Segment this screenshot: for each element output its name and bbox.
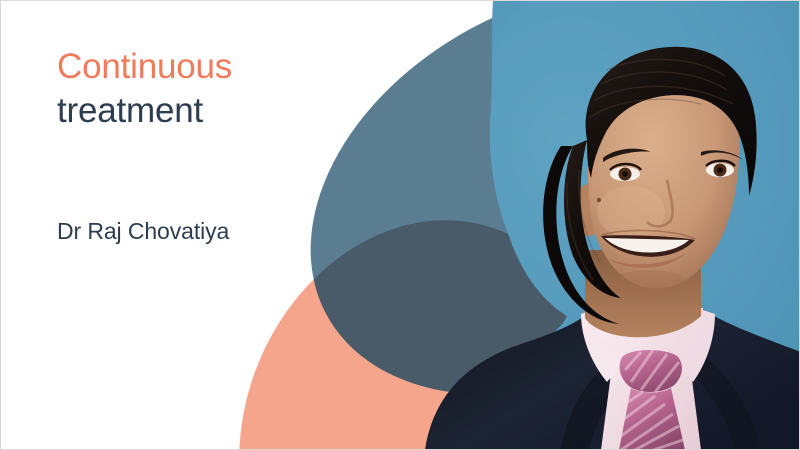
title-block: Continuous treatment xyxy=(57,45,357,133)
title-line-main: treatment xyxy=(57,89,357,133)
title-line-accent: Continuous xyxy=(57,45,357,89)
presenter-name: Dr Raj Chovatiya xyxy=(57,216,229,246)
video-title-slide: Continuous treatment Dr Raj Chovatiya xyxy=(0,0,800,450)
